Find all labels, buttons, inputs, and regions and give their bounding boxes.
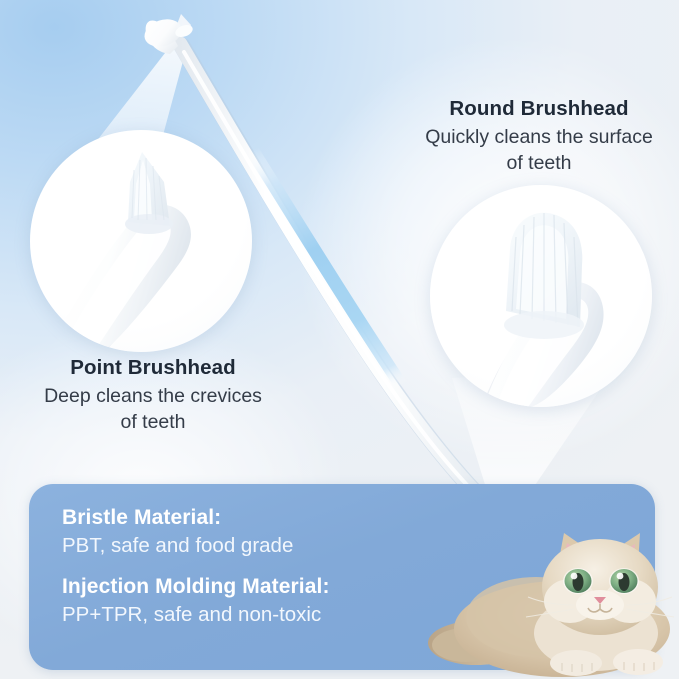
material-info-banner: Bristle Material: PBT, safe and food gra… <box>29 484 655 670</box>
callout-desc-round-line2: of teeth <box>405 151 673 177</box>
callout-text-point: Point Brushhead Deep cleans the crevices… <box>8 355 298 435</box>
material-value-bristle: PBT, safe and food grade <box>62 533 492 560</box>
material-value-injection: PP+TPR, safe and non-toxic <box>62 602 492 629</box>
point-brushhead-zoom-circle <box>30 130 252 352</box>
material-item-injection: Injection Molding Material: PP+TPR, safe… <box>62 573 492 629</box>
material-label-injection: Injection Molding Material: <box>62 573 492 600</box>
callout-desc-round-line1: Quickly cleans the surface <box>405 125 673 151</box>
round-brushhead-closeup-art <box>430 185 652 407</box>
material-label-bristle: Bristle Material: <box>62 504 492 531</box>
infographic-canvas: Round Brushhead Quickly cleans the surfa… <box>0 0 679 679</box>
material-item-bristle: Bristle Material: PBT, safe and food gra… <box>62 504 492 560</box>
callout-text-round: Round Brushhead Quickly cleans the surfa… <box>405 96 673 176</box>
callout-title-point: Point Brushhead <box>8 355 298 380</box>
point-brushhead-closeup-art <box>30 130 252 352</box>
material-info-list: Bristle Material: PBT, safe and food gra… <box>62 504 492 642</box>
callout-desc-point-line1: Deep cleans the crevices <box>8 384 298 410</box>
callout-title-round: Round Brushhead <box>405 96 673 121</box>
callout-desc-point-line2: of teeth <box>8 410 298 436</box>
round-brushhead-zoom-circle <box>430 185 652 407</box>
